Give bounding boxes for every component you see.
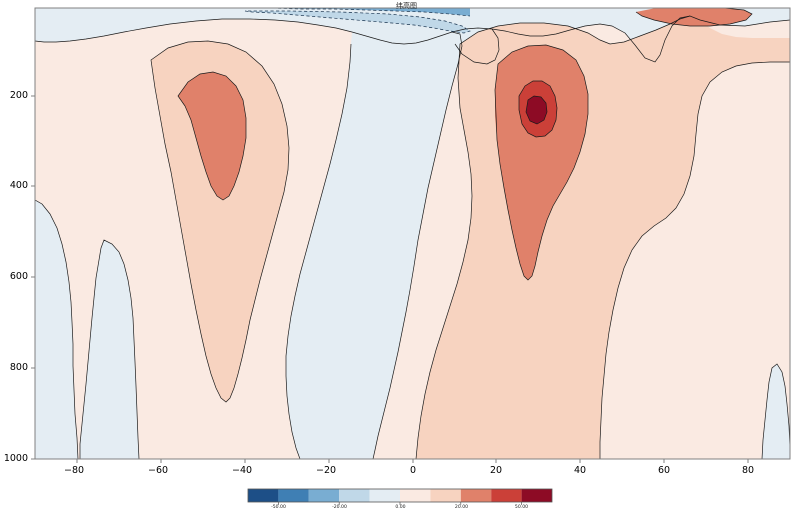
colorbar-swatch-7	[461, 489, 491, 502]
x-tick-label-60: 60	[658, 465, 670, 476]
y-tick-label-800: 800	[0, 362, 28, 373]
x-tick-label-40: 40	[574, 465, 586, 476]
x-tick-label--60: −60	[148, 465, 168, 476]
x-tick-label-80: 80	[742, 465, 754, 476]
figure-canvas: 纬高图 −80 −60 −40 −20 0 20 40 60 80 1000 8…	[0, 0, 800, 520]
colorbar-swatch-5	[400, 489, 430, 502]
x-tick-label--80: −80	[64, 465, 84, 476]
contour-fill-group	[35, 8, 790, 459]
colorbar-tick-label--20: -20.00	[327, 505, 352, 510]
colorbar-tick-label-20: 20.00	[449, 505, 474, 510]
y-tick-label-400: 400	[0, 180, 28, 191]
colorbar-swatch-9	[522, 489, 552, 502]
colorbar-swatch-0	[248, 489, 278, 502]
x-tick-label--40: −40	[232, 465, 252, 476]
y-tick-label-200: 200	[0, 90, 28, 101]
colorbar-swatch-3	[339, 489, 369, 502]
x-tick-label--20: −20	[316, 465, 336, 476]
colorbar-swatch-4	[370, 489, 400, 502]
x-tick-label-0: 0	[410, 465, 416, 476]
y-tick-label-1000: 1000	[0, 453, 28, 464]
contour-plot	[0, 0, 800, 520]
page-title: 纬高图	[396, 1, 417, 11]
colorbar-swatch-2	[309, 489, 339, 502]
colorbar-swatch-8	[491, 489, 521, 502]
colorbar-swatch-1	[278, 489, 308, 502]
colorbar-tick-label-50: 50.00	[509, 505, 534, 510]
colorbar-swatches	[248, 489, 552, 502]
y-tick-label-600: 600	[0, 271, 28, 282]
colorbar-tick-label--50: -50.00	[266, 505, 291, 510]
colorbar-tick-label-0: 0.00	[388, 505, 413, 510]
x-tick-label-20: 20	[490, 465, 502, 476]
colorbar-swatch-6	[430, 489, 460, 502]
